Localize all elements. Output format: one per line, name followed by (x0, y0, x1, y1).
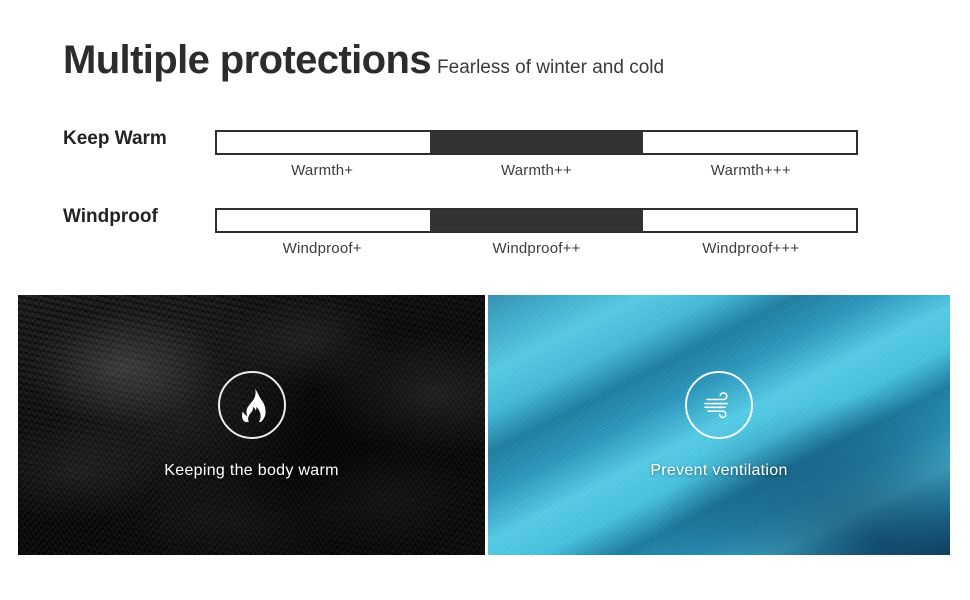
meter-tick-label: Warmth+++ (644, 162, 858, 179)
panel-windproof-content: Prevent ventilation (488, 295, 950, 555)
page-header: Multiple protections Fearless of winter … (63, 40, 664, 80)
panel-keep-warm: Keeping the body warm (18, 295, 485, 555)
meter-bar-keep-warm[interactable] (215, 130, 858, 155)
meter-label-keep-warm: Keep Warm (63, 122, 208, 155)
panel-keep-warm-caption: Keeping the body warm (164, 462, 338, 480)
meter-segment-2 (430, 132, 643, 153)
wind-icon (701, 390, 737, 420)
page-title: Multiple protections (63, 40, 431, 80)
meter-tick-label: Warmth+ (215, 162, 429, 179)
meter-row-windproof: Windproof Windproof+ Windproof++ Windpro… (63, 200, 873, 264)
meter-segment-2 (430, 210, 643, 231)
panel-keep-warm-content: Keeping the body warm (18, 295, 485, 555)
meter-tick-label: Warmth++ (429, 162, 643, 179)
meter-segment-1 (217, 132, 430, 153)
meter-segment-3 (643, 132, 856, 153)
meter-tick-label: Windproof+++ (644, 240, 858, 257)
flame-icon (237, 388, 267, 422)
panel-windproof-caption: Prevent ventilation (650, 462, 787, 480)
flame-icon-circle (218, 371, 286, 439)
meter-tick-label: Windproof++ (429, 240, 643, 257)
page-subtitle: Fearless of winter and cold (437, 57, 664, 79)
meter-label-windproof: Windproof (63, 200, 208, 233)
meter-segment-1 (217, 210, 430, 231)
panel-windproof: Prevent ventilation (488, 295, 950, 555)
meter-tick-label: Windproof+ (215, 240, 429, 257)
meter-ticks-keep-warm: Warmth+ Warmth++ Warmth+++ (215, 162, 858, 179)
meter-segment-3 (643, 210, 856, 231)
meter-bar-windproof[interactable] (215, 208, 858, 233)
meter-row-keep-warm: Keep Warm Warmth+ Warmth++ Warmth+++ (63, 122, 873, 186)
feature-panels: Keeping the body warm Prevent ventilatio… (18, 295, 950, 555)
meter-ticks-windproof: Windproof+ Windproof++ Windproof+++ (215, 240, 858, 257)
wind-icon-circle (685, 371, 753, 439)
